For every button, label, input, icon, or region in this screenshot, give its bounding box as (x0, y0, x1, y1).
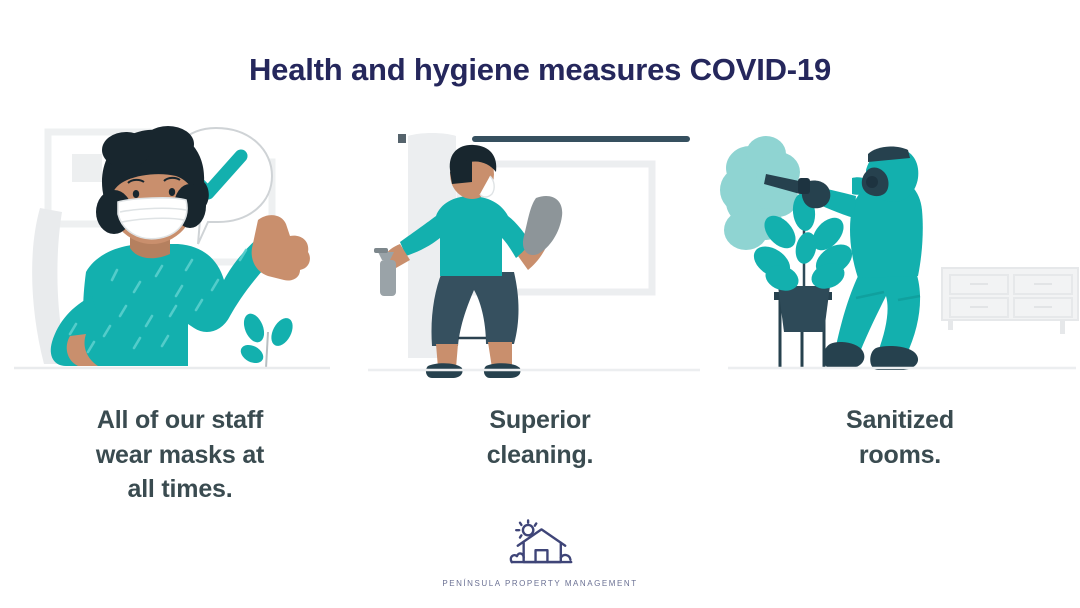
illustration-woman-wearing-mask-thumbs-up (0, 120, 360, 385)
caption-cleaning: Superior cleaning. (487, 403, 594, 472)
thumbs-up-hand (252, 215, 310, 280)
eye-right (169, 188, 175, 196)
house-with-sun-logo-icon (494, 519, 586, 571)
head (450, 145, 497, 199)
dresser (942, 268, 1078, 334)
page-title: Health and hygiene measures COVID-19 (0, 52, 1080, 88)
feature-columns: All of our staff wear masks at all times… (0, 120, 1080, 500)
plant-pot (778, 286, 830, 332)
illustration-person-cleaning-window (360, 120, 720, 385)
small-plant-sprout (238, 311, 297, 368)
feature-column-sanitized: Sanitized rooms. (720, 120, 1080, 500)
poster-canvas: Health and hygiene measures COVID-19 (0, 0, 1080, 608)
cleaning-cloth (523, 196, 562, 255)
brand-logo: PENÍNSULA PROPERTY MANAGEMENT (0, 519, 1080, 588)
head (96, 126, 209, 244)
feature-column-cleaning: Superior cleaning. (360, 120, 720, 500)
eye-left (133, 190, 139, 198)
caption-sanitized: Sanitized rooms. (846, 403, 954, 472)
caption-masks: All of our staff wear masks at all times… (96, 403, 264, 507)
logo-wordmark: PENÍNSULA PROPERTY MANAGEMENT (442, 579, 637, 588)
illustration-person-in-hazmat-spraying-disinfectant (720, 120, 1080, 385)
feature-column-masks: All of our staff wear masks at all times… (0, 120, 360, 500)
slate-trousers (431, 272, 518, 346)
